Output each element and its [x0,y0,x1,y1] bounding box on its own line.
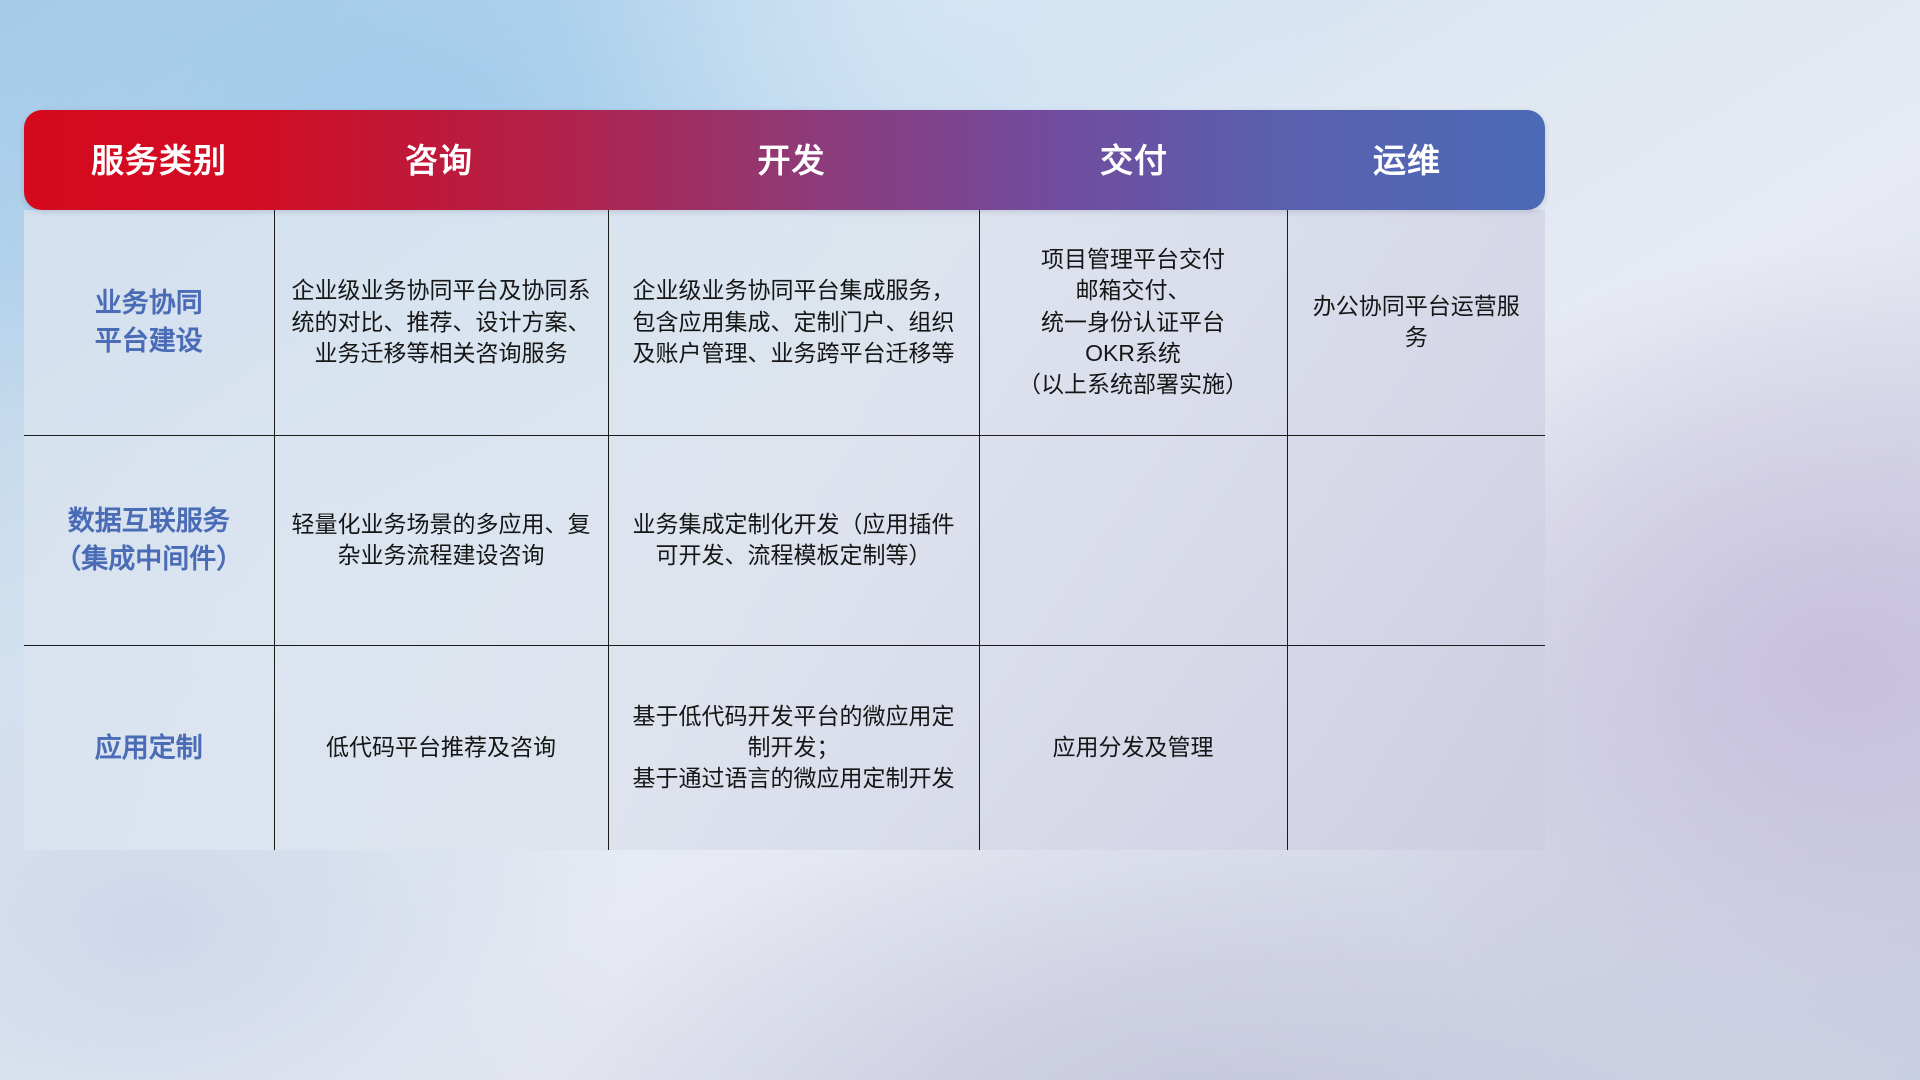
cell-delivery-row-0: 项目管理平台交付 邮箱交付、 统一身份认证平台 OKR系统 （以上系统部署实施） [979,210,1287,435]
table-body: 业务协同 平台建设 企业级业务协同平台及协同系 统的对比、推荐、设计方案、 业务… [24,210,1545,850]
row-category-data-interconnect: 数据互联服务 （集成中间件） [24,435,274,645]
table-row: 业务协同 平台建设 企业级业务协同平台及协同系 统的对比、推荐、设计方案、 业务… [24,210,1545,435]
cell-development-row-2: 基于低代码开发平台的微应用定 制开发； 基于通过语言的微应用定制开发 [608,645,979,850]
cell-operations-row-1 [1287,435,1545,645]
cell-operations-row-2 [1287,645,1545,850]
cell-operations-row-0: 办公协同平台运营服务 [1287,210,1545,435]
service-matrix-table: 服务类别 咨询 开发 交付 运维 业务协同 平台建设 企业级业务协同平台及协同系… [24,110,1545,850]
cell-consulting-row-2: 低代码平台推荐及咨询 [274,645,608,850]
table-row: 应用定制 低代码平台推荐及咨询 基于低代码开发平台的微应用定 制开发； 基于通过… [24,645,1545,850]
row-category-business-collaboration: 业务协同 平台建设 [24,210,274,435]
cell-development-row-0: 企业级业务协同平台集成服务， 包含应用集成、定制门户、组织 及账户管理、业务跨平… [608,210,979,435]
column-header-delivery: 交付 [979,144,1289,177]
column-header-consulting: 咨询 [274,144,604,177]
table-header-row: 服务类别 咨询 开发 交付 运维 [24,110,1545,210]
table-row: 数据互联服务 （集成中间件） 轻量化业务场景的多应用、复 杂业务流程建设咨询 业… [24,435,1545,645]
cell-consulting-row-1: 轻量化业务场景的多应用、复 杂业务流程建设咨询 [274,435,608,645]
cell-consulting-row-0: 企业级业务协同平台及协同系 统的对比、推荐、设计方案、 业务迁移等相关咨询服务 [274,210,608,435]
cell-development-row-1: 业务集成定制化开发（应用插件 可开发、流程模板定制等） [608,435,979,645]
cell-delivery-row-1 [979,435,1287,645]
column-header-development: 开发 [604,144,979,177]
column-header-service-category: 服务类别 [44,144,274,177]
column-header-operations: 运维 [1289,144,1525,177]
cell-delivery-row-2: 应用分发及管理 [979,645,1287,850]
row-category-application-customization: 应用定制 [24,645,274,850]
